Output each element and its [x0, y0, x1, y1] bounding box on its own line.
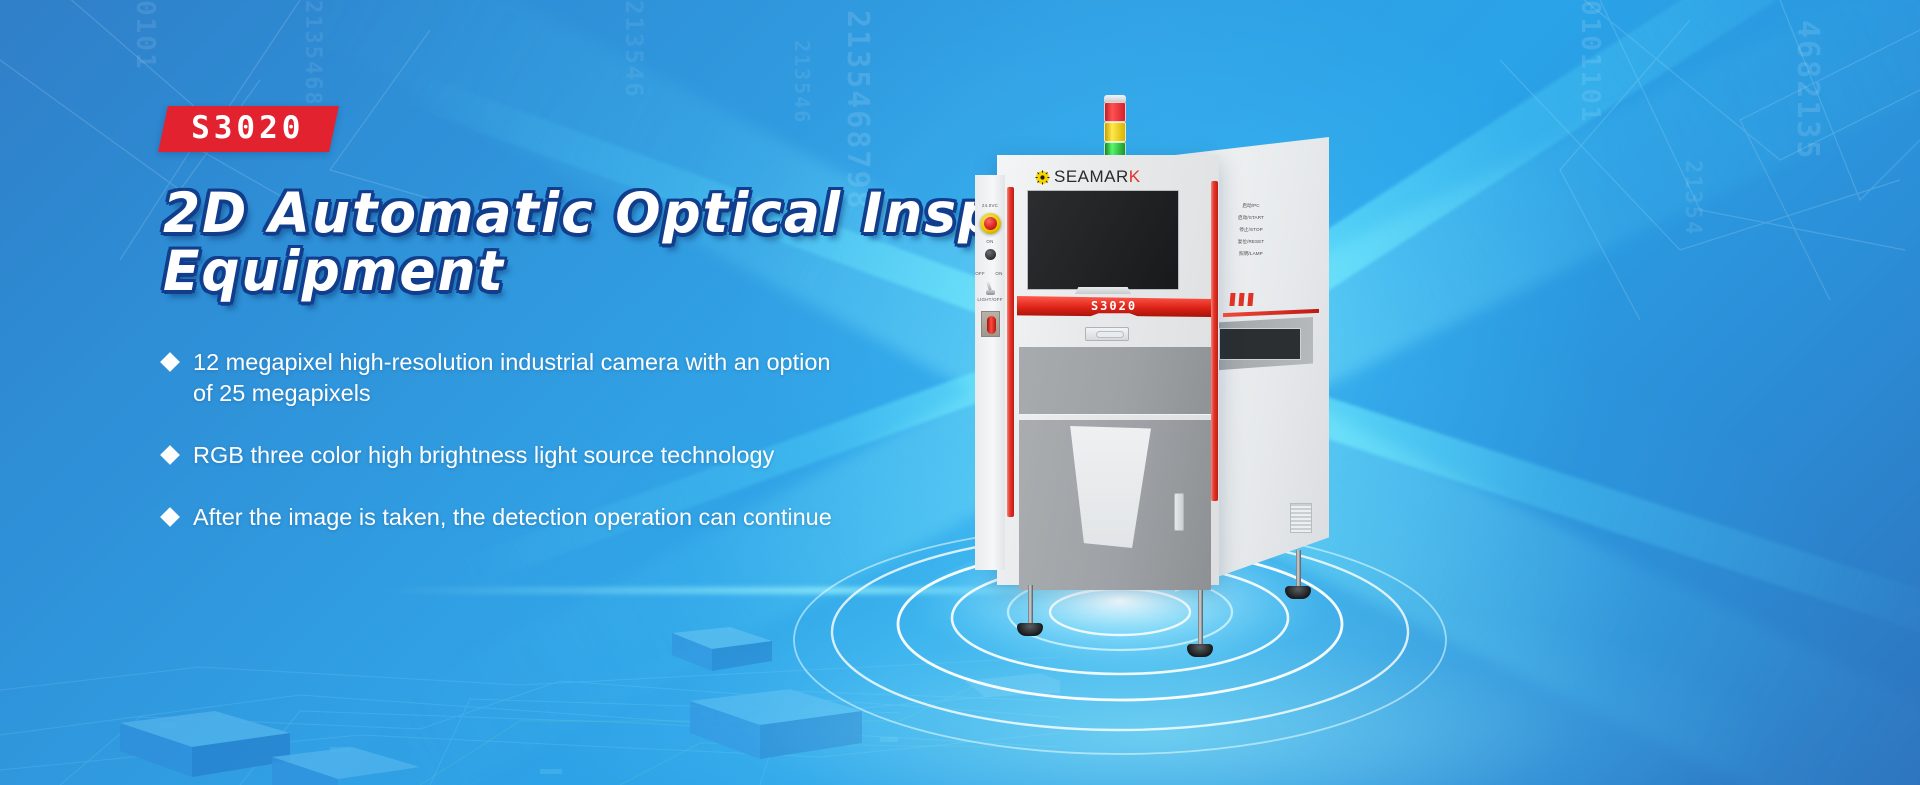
machine-monitor-stand [1075, 287, 1131, 294]
list-item-label: RGB three color high brightness light so… [193, 440, 774, 472]
banner-copy: S3020 2D Automatic Optical Inspection Eq… [163, 106, 1023, 563]
model-badge: S3020 [158, 106, 339, 152]
bg-digit-column: 21354 [1680, 160, 1705, 236]
diamond-bullet-icon [160, 445, 180, 465]
machine-side-window [1207, 317, 1313, 371]
toggle-off-label: OFF [972, 271, 988, 276]
machine-red-stripe [1007, 187, 1014, 517]
machine-leg [1187, 590, 1213, 657]
list-item: 12 megapixel high-resolution industrial … [163, 347, 1023, 410]
indicator-panel: 启动/PC 启动/START 停止/STOP 复位/RESET 照明/LAMP [1223, 203, 1279, 263]
indicator-label: 复位/RESET [1223, 239, 1279, 245]
indicator-label: 启动/START [1223, 215, 1279, 221]
page-title-line-2: Equipment [163, 242, 997, 300]
machine-red-ticks [1230, 293, 1253, 306]
machine-red-stripe [1211, 181, 1218, 501]
power-label: ON [977, 239, 1003, 244]
machine-vent-grille [1290, 503, 1312, 533]
indicator-row: 照明/LAMP [1223, 251, 1279, 257]
brand-name-main: SEAMAR [1054, 167, 1129, 186]
red-rocker-switch[interactable] [981, 311, 1000, 337]
toggle-on-label: ON [991, 271, 1007, 276]
aoi-machine: SEAMARK S3020 24.0VC ON OFF ON LIGHT/OF [975, 95, 1535, 695]
diamond-bullet-icon [160, 507, 180, 527]
tower-light-cap [1104, 95, 1126, 102]
machine-upper-door[interactable] [1019, 347, 1211, 415]
light-toggle-label: LIGHT/OFF [977, 297, 1003, 302]
indicator-row: 停止/STOP [1223, 227, 1279, 233]
list-item-label: After the image is taken, the detection … [193, 502, 832, 534]
indicator-label: 照明/LAMP [1223, 251, 1279, 257]
model-badge-label: S3020 [191, 113, 304, 144]
bg-digit-column: 4682135 [1790, 20, 1825, 160]
indicator-row: 复位/RESET [1223, 239, 1279, 245]
bg-digit-column: 213546 [620, 0, 648, 99]
brand-logo: SEAMARK [1035, 167, 1141, 187]
indicator-label: 启动/PC [1223, 203, 1279, 209]
power-button[interactable] [985, 249, 996, 260]
bg-cube [272, 747, 420, 785]
brand-name-accent: K [1129, 167, 1141, 186]
machine-model-label: S3020 [1091, 299, 1137, 313]
page-title: 2D Automatic Optical Inspection Equipmen… [163, 184, 997, 301]
page-title-line-1: 2D Automatic Optical Inspection [163, 184, 997, 242]
machine-nameplate [1085, 327, 1129, 341]
machine-leg [1017, 585, 1043, 636]
estop-label: 24.0VC [977, 203, 1003, 208]
list-item-label: 12 megapixel high-resolution industrial … [193, 347, 833, 410]
machine-monitor[interactable] [1027, 190, 1179, 290]
machine-lower-door[interactable] [1019, 420, 1211, 590]
machine-side-glass [1219, 328, 1301, 360]
bg-digit-column: 0101 [130, 0, 160, 71]
indicator-row: 启动/PC [1223, 203, 1279, 209]
banner-stage: 2135468798 213546 0101101 4682135 21354 … [0, 0, 1920, 785]
emergency-stop-button[interactable] [980, 213, 1001, 234]
machine-door-handle[interactable] [1174, 493, 1184, 531]
indicator-row: 启动/START [1223, 215, 1279, 221]
bg-digit-column: 0101101 [1575, 0, 1605, 124]
brand-name: SEAMARK [1054, 167, 1141, 187]
indicator-label: 停止/STOP [1223, 227, 1279, 233]
machine-control-column: 24.0VC ON OFF ON LIGHT/OFF [975, 175, 1005, 570]
list-item: RGB three color high brightness light so… [163, 440, 1023, 472]
bg-cube [672, 627, 772, 671]
bg-cube [120, 711, 290, 777]
machine-leg [1285, 550, 1311, 599]
diamond-bullet-icon [160, 352, 180, 372]
tower-light-yellow [1104, 122, 1126, 142]
light-toggle-switch[interactable] [986, 281, 995, 295]
tower-light-red [1104, 102, 1126, 122]
machine-door-graphic [1065, 426, 1151, 548]
gear-icon [1035, 170, 1050, 185]
